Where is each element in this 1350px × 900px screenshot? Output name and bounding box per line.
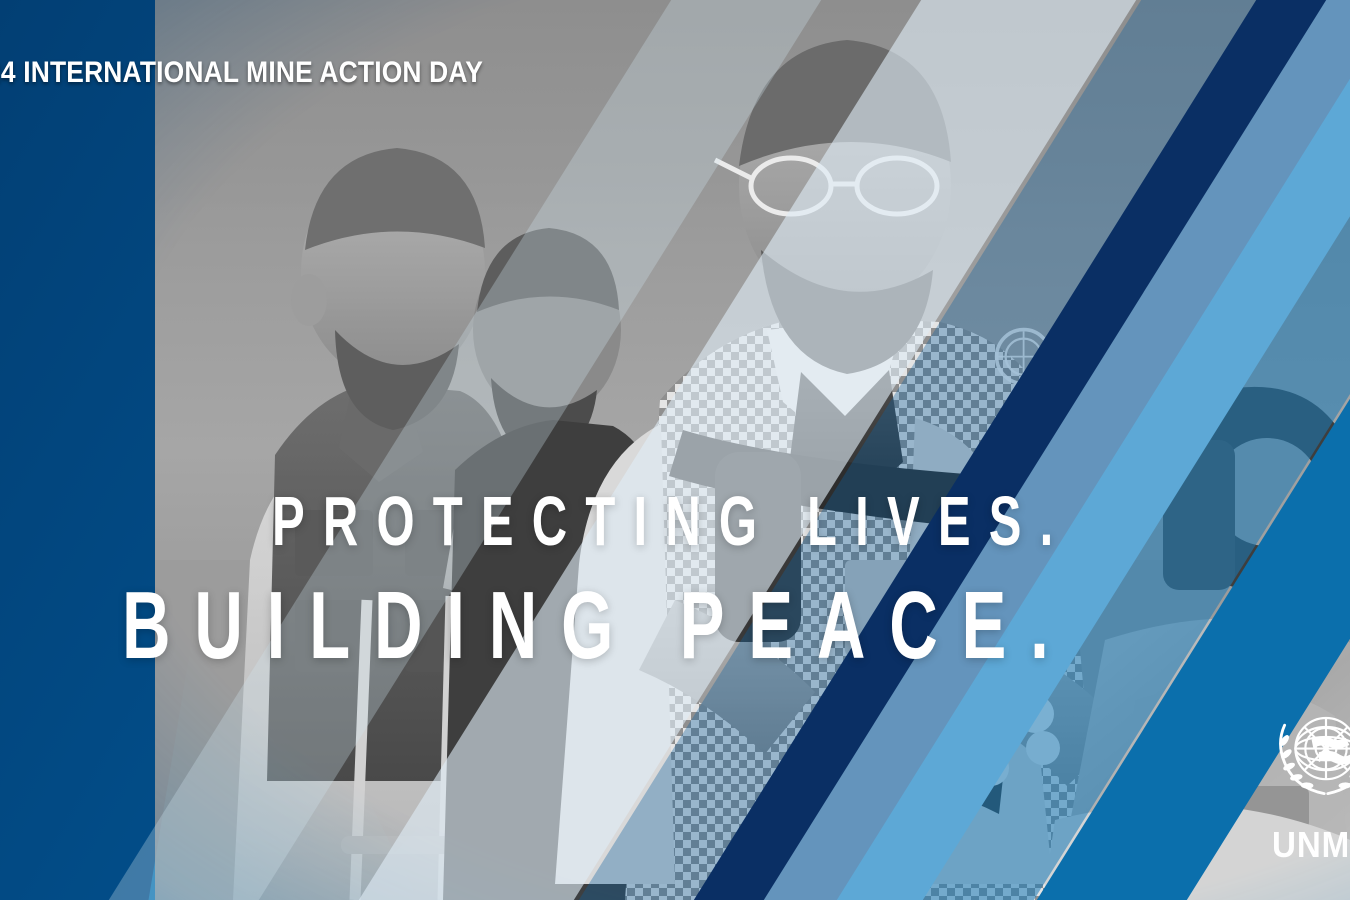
mine-action-day-banner: 24 INTERNATIONAL MINE ACTION DAY PROTECT… xyxy=(0,0,1350,900)
unmas-wordmark: UNM xyxy=(1272,824,1350,866)
headline-line-2: BUILDING PEACE. xyxy=(122,578,1073,674)
event-kicker-text: 24 INTERNATIONAL MINE ACTION DAY xyxy=(0,56,483,90)
headline-line-1: PROTECTING LIVES. xyxy=(272,486,1071,556)
un-emblem-icon xyxy=(1272,700,1350,808)
unmas-logo: UNM xyxy=(1272,700,1350,900)
